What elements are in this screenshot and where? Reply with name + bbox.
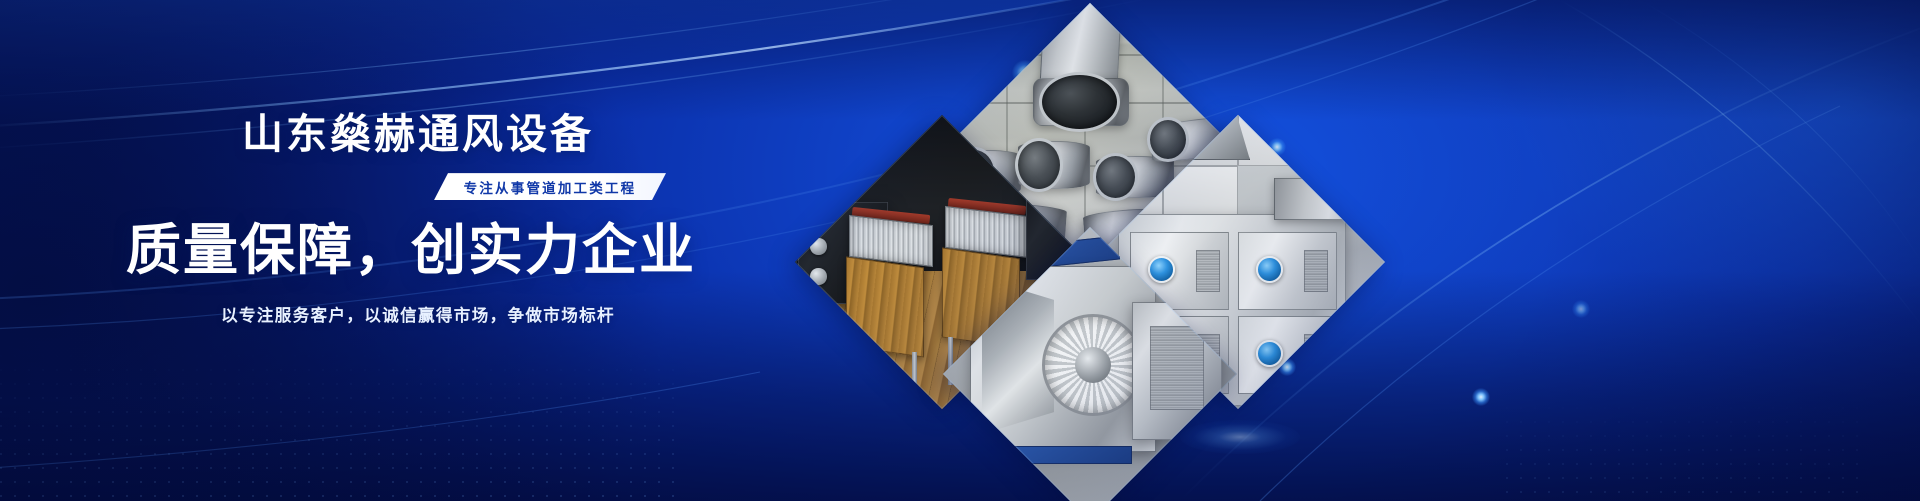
hero-copy-block: 山东燊赫通风设备 专注从事管道加工类工程 质量保障，创实力企业 以专注服务客户，… <box>0 112 800 326</box>
ribbon-badge: 专注从事管道加工类工程 <box>434 173 666 200</box>
diamond-photo-collage <box>800 28 1240 388</box>
ribbon-label: 专注从事管道加工类工程 <box>464 177 637 197</box>
company-title: 山东燊赫通风设备 <box>0 112 800 157</box>
hero-banner: 山东燊赫通风设备 专注从事管道加工类工程 质量保障，创实力企业 以专注服务客户，… <box>0 0 1920 501</box>
hero-tagline: 以专注服务客户，以诚信赢得市场，争做市场标杆 <box>0 302 800 326</box>
hero-headline: 质量保障，创实力企业 <box>0 220 800 282</box>
